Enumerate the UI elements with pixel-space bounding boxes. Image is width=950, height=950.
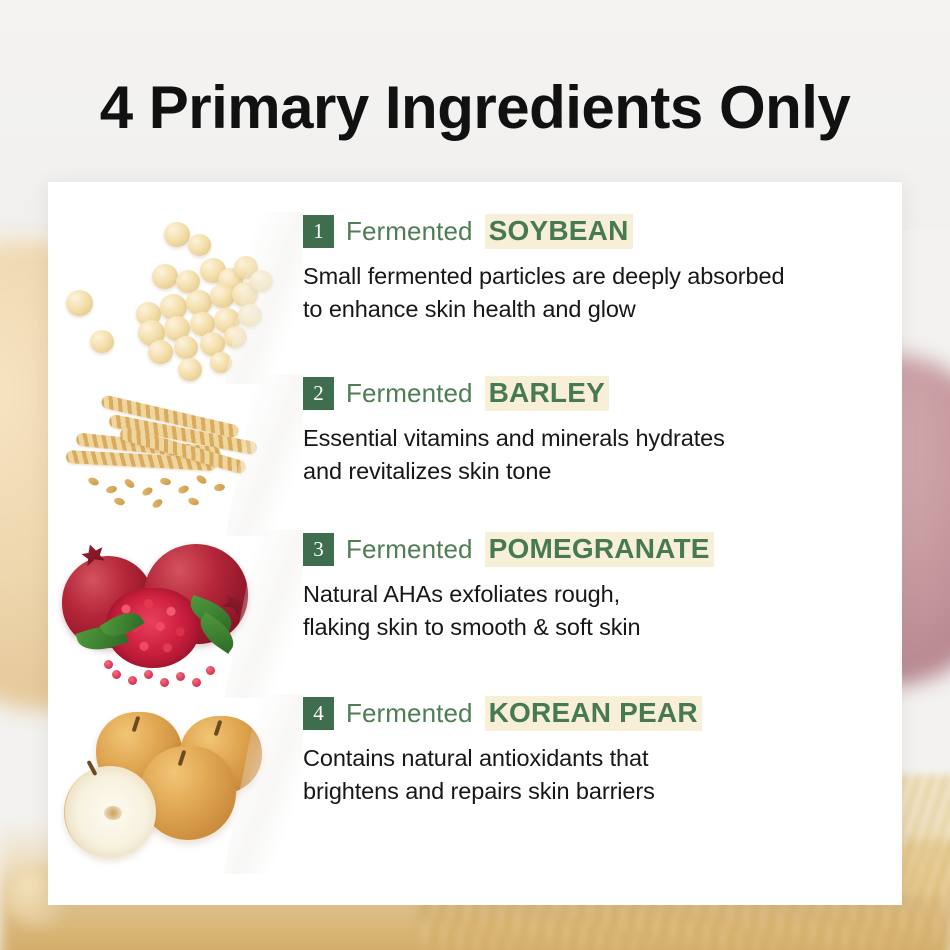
- description-line: and revitalizes skin tone: [303, 455, 902, 488]
- description-line: brightens and repairs skin barriers: [303, 775, 902, 808]
- list-item: 2 Fermented BARLEY Essential vitamins an…: [48, 374, 902, 536]
- list-item: 1 Fermented SOYBEAN Small fermented part…: [48, 212, 902, 384]
- ingredients-card: 1 Fermented SOYBEAN Small fermented part…: [48, 182, 902, 905]
- soybeans-photo: [48, 212, 303, 384]
- ingredient-name: POMEGRANATE: [485, 532, 714, 567]
- ingredient-heading: 4 Fermented KOREAN PEAR: [303, 696, 902, 731]
- ingredient-heading: 1 Fermented SOYBEAN: [303, 214, 902, 249]
- ingredient-text: 2 Fermented BARLEY Essential vitamins an…: [303, 374, 902, 489]
- ingredient-name: SOYBEAN: [485, 214, 633, 249]
- ingredient-description: Essential vitamins and minerals hydrates…: [303, 422, 902, 489]
- ingredient-name: KOREAN PEAR: [485, 696, 702, 731]
- ingredient-prefix: Fermented: [346, 378, 473, 409]
- description-line: to enhance skin health and glow: [303, 293, 902, 326]
- description-line: flaking skin to smooth & soft skin: [303, 611, 902, 644]
- ingredient-description: Natural AHAs exfoliates rough, flaking s…: [303, 578, 902, 645]
- ingredient-heading: 2 Fermented BARLEY: [303, 376, 902, 411]
- ingredient-number-badge: 2: [303, 377, 334, 410]
- ingredient-number-badge: 3: [303, 533, 334, 566]
- description-line: Small fermented particles are deeply abs…: [303, 260, 902, 293]
- description-line: Contains natural antioxidants that: [303, 742, 902, 775]
- ingredient-name: BARLEY: [485, 376, 609, 411]
- ingredient-prefix: Fermented: [346, 698, 473, 729]
- description-line: Essential vitamins and minerals hydrates: [303, 422, 902, 455]
- description-line: Natural AHAs exfoliates rough,: [303, 578, 902, 611]
- ingredient-number-badge: 4: [303, 697, 334, 730]
- ingredient-text: 1 Fermented SOYBEAN Small fermented part…: [303, 212, 902, 327]
- barley-photo: [48, 374, 303, 536]
- ingredient-text: 4 Fermented KOREAN PEAR Contains natural…: [303, 694, 902, 809]
- ingredient-prefix: Fermented: [346, 534, 473, 565]
- ingredient-list: 1 Fermented SOYBEAN Small fermented part…: [48, 182, 902, 905]
- list-item: 4 Fermented KOREAN PEAR Contains natural…: [48, 694, 902, 874]
- list-item: 3 Fermented POMEGRANATE Natural AHAs exf…: [48, 530, 902, 698]
- ingredient-description: Small fermented particles are deeply abs…: [303, 260, 902, 327]
- page-title: 4 Primary Ingredients Only: [0, 73, 950, 142]
- ingredient-number-badge: 1: [303, 215, 334, 248]
- ingredient-text: 3 Fermented POMEGRANATE Natural AHAs exf…: [303, 530, 902, 645]
- ingredient-heading: 3 Fermented POMEGRANATE: [303, 532, 902, 567]
- korean-pear-photo: [48, 694, 303, 874]
- ingredient-prefix: Fermented: [346, 216, 473, 247]
- pomegranate-photo: [48, 530, 303, 698]
- ingredient-description: Contains natural antioxidants that brigh…: [303, 742, 902, 809]
